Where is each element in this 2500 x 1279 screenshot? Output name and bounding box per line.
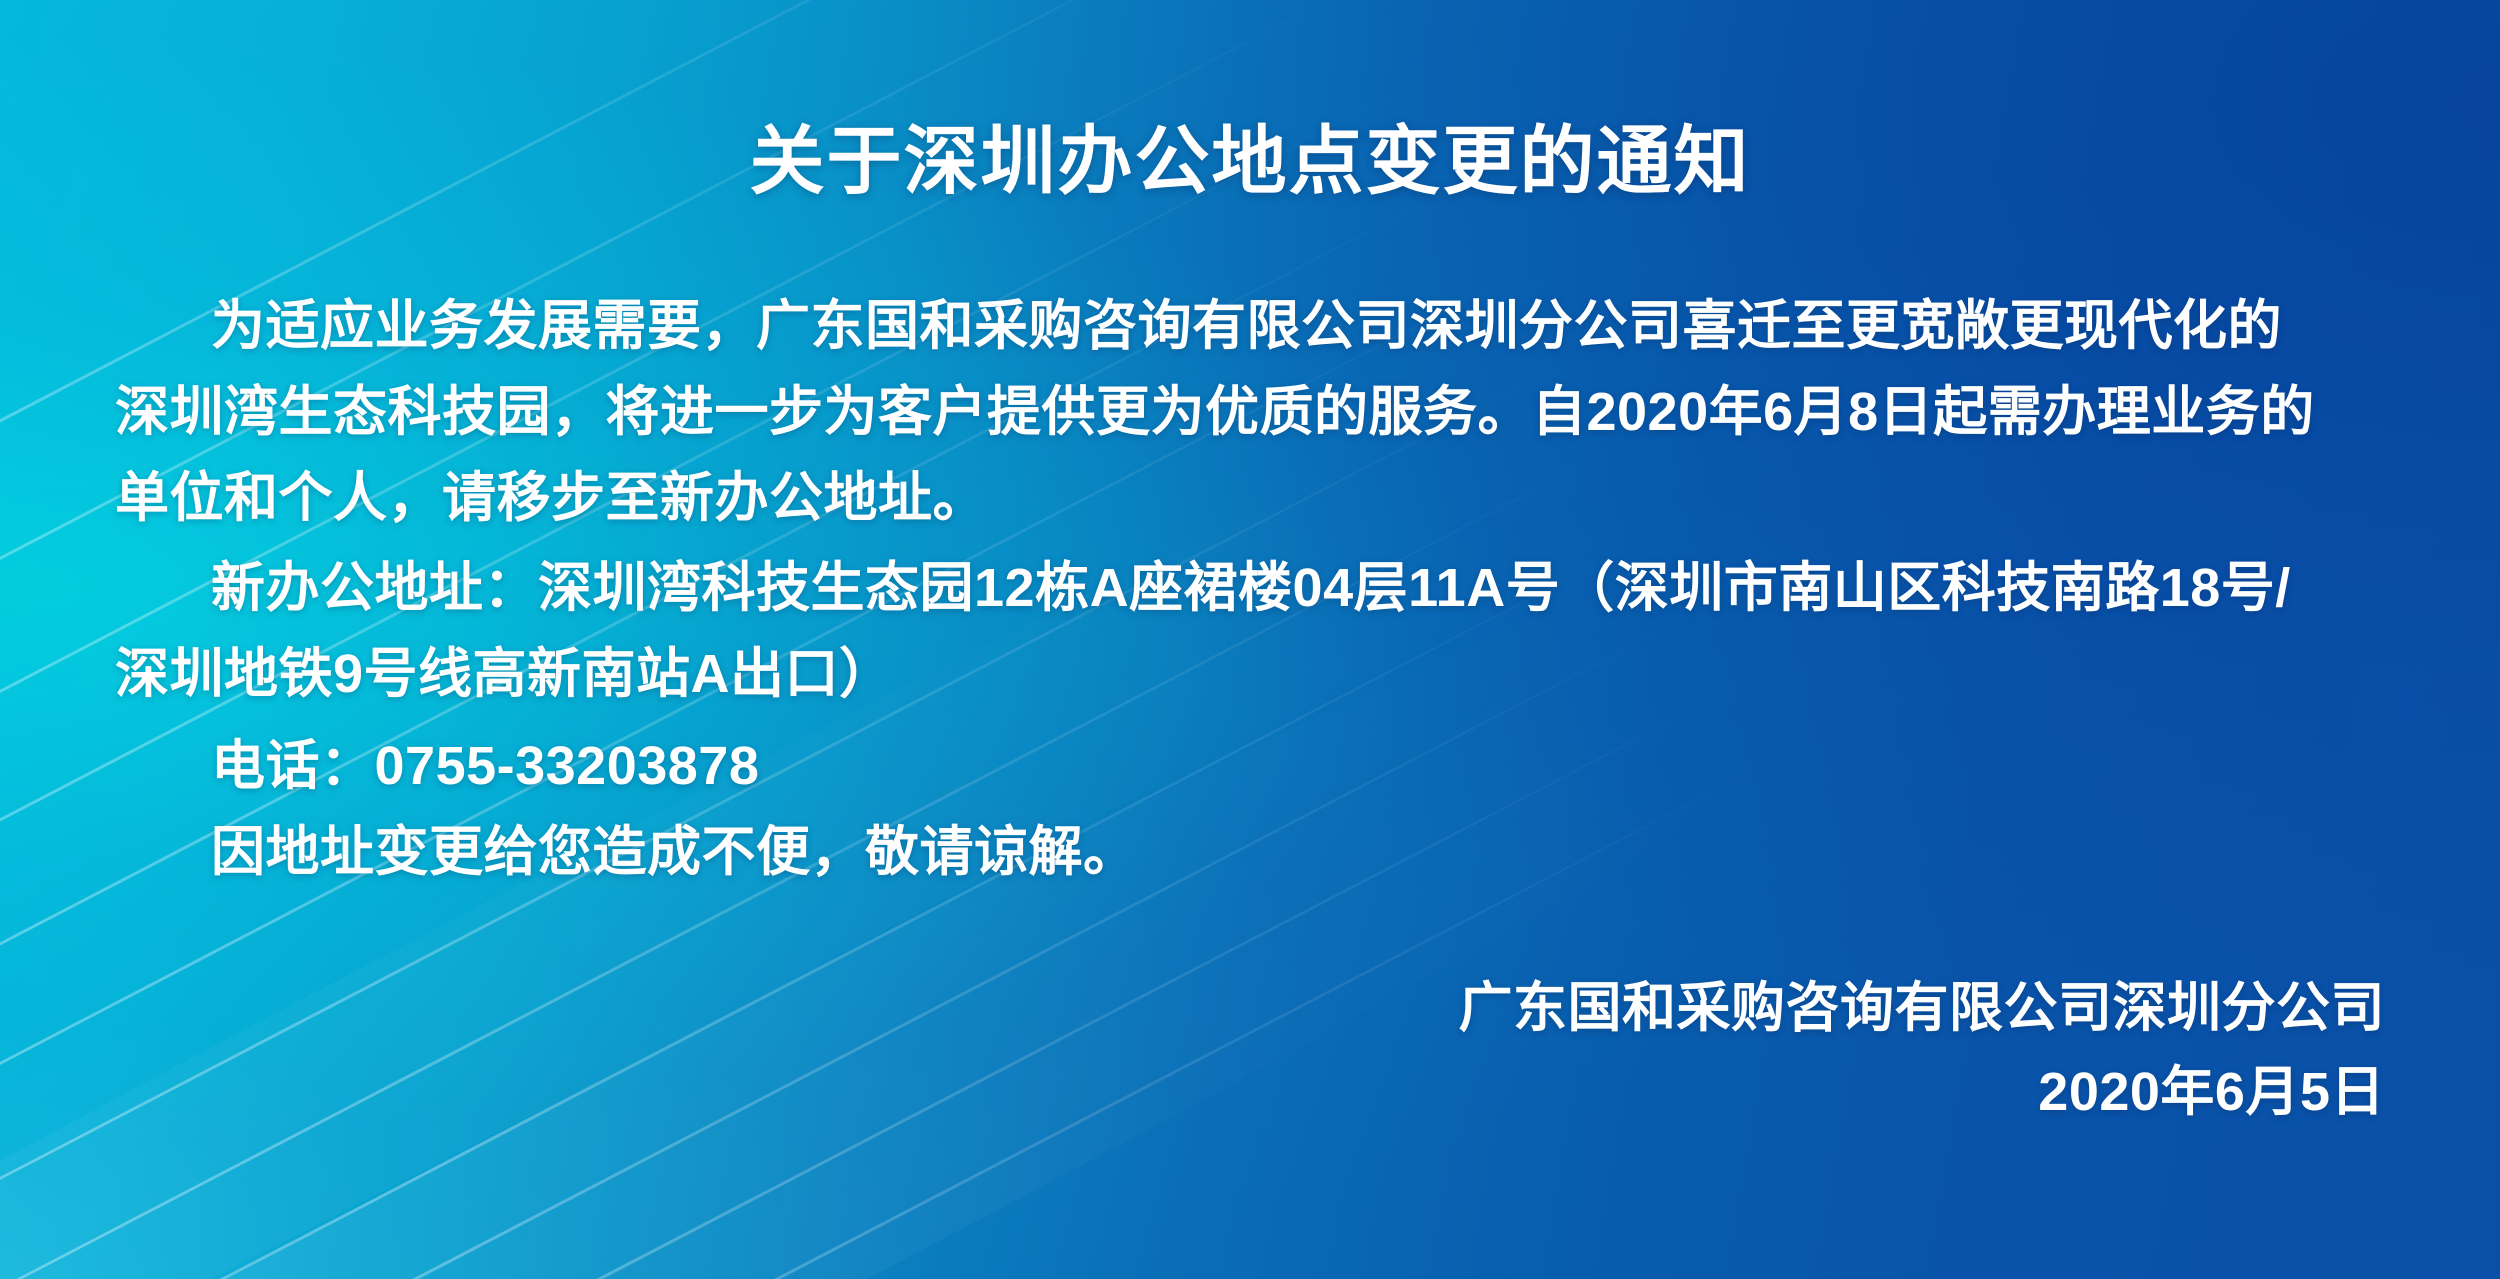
contact-paragraph: 电话：0755-33203878 因地址变更给您造成不便，敬请谅解。 bbox=[115, 723, 2385, 895]
body-paragraph: 为适应业务发展需要，广东国和采购咨询有限公司深圳分公司喜迁至更宽敞更现代化的 深… bbox=[115, 283, 2385, 541]
apology-line: 因地址变更给您造成不便，敬请谅解。 bbox=[115, 809, 2385, 895]
phone-line: 电话：0755-33203878 bbox=[115, 723, 2385, 809]
signature-date: 2020年6月5日 bbox=[1459, 1050, 2386, 1134]
body-line: 深圳湾生态科技园，将进一步为客户提供更为优质的服务。自2020年6月8日起需办理… bbox=[115, 369, 2385, 455]
address-paragraph: 新办公地址：深圳湾科技生态园12栋A座裙楼04层11A号（深圳市南山区科技南路1… bbox=[115, 545, 2385, 717]
address-line: 新办公地址：深圳湾科技生态园12栋A座裙楼04层11A号（深圳市南山区科技南路1… bbox=[115, 545, 2385, 631]
signature-block: 广东国和采购咨询有限公司深圳分公司 2020年6月5日 bbox=[1459, 966, 2386, 1134]
page-title: 关于深圳办公地点变更的通知 bbox=[115, 0, 2385, 205]
body-line: 为适应业务发展需要，广东国和采购咨询有限公司深圳分公司喜迁至更宽敞更现代化的 bbox=[115, 283, 2385, 369]
address-line: 深圳地铁9号线高新南站A出口） bbox=[115, 631, 2385, 717]
body-line: 单位和个人，请移步至新办公地址。 bbox=[115, 455, 2385, 541]
notice-banner: 关于深圳办公地点变更的通知 为适应业务发展需要，广东国和采购咨询有限公司深圳分公… bbox=[0, 0, 2500, 1279]
signature-organization: 广东国和采购咨询有限公司深圳分公司 bbox=[1459, 966, 2386, 1050]
